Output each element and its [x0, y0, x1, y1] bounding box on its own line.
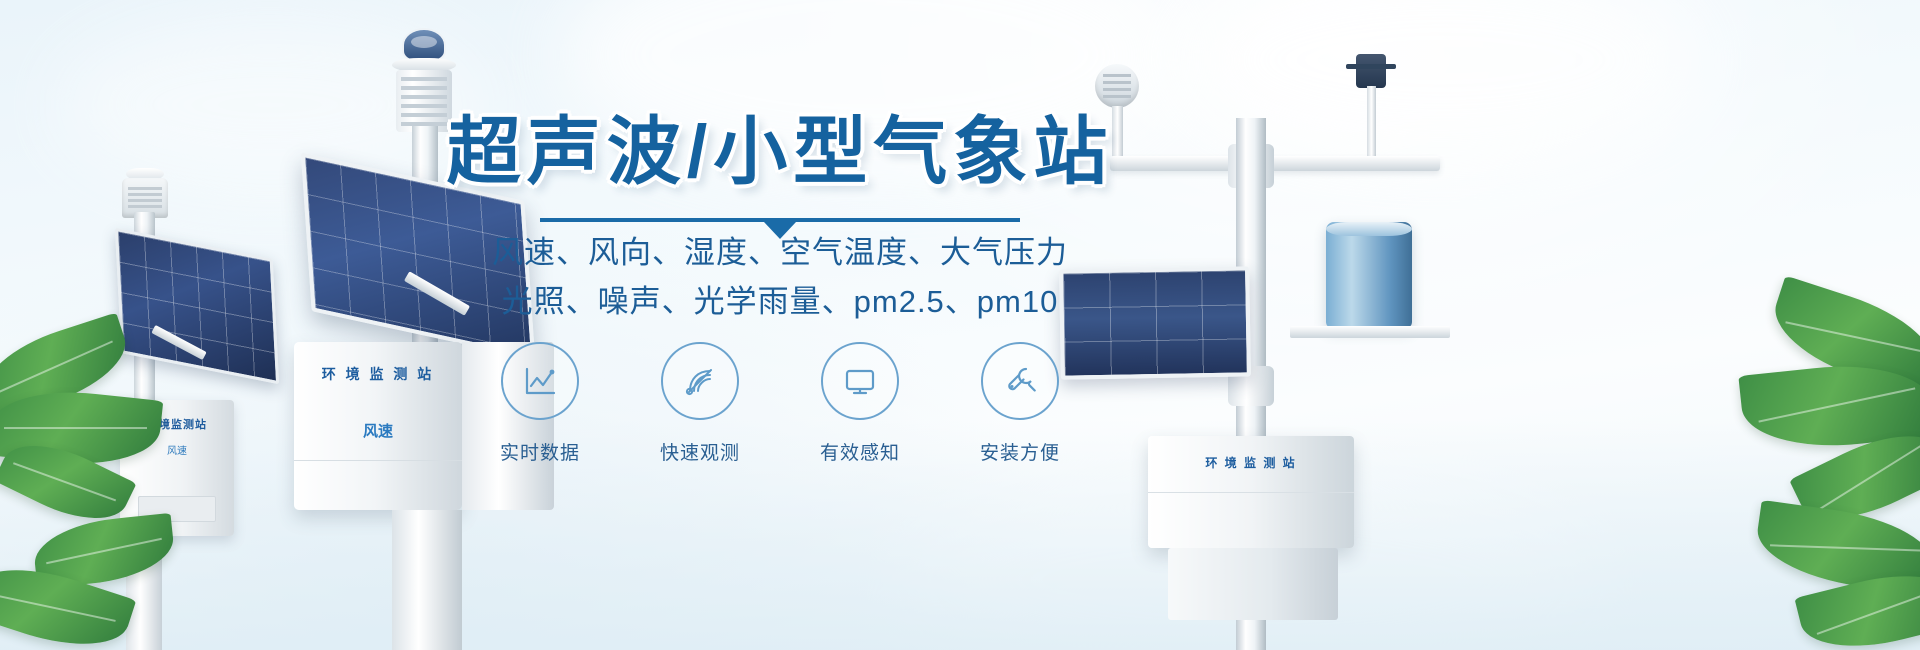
control-cabinet: 环 境 监 测 站 风速 [294, 342, 462, 510]
page-title: 超声波/小型气象站 [440, 115, 1120, 189]
wrench-icon [981, 342, 1059, 420]
sky-dome-sensor-icon [404, 30, 444, 60]
cross-arm [1110, 156, 1440, 171]
wind-vane-icon [1356, 54, 1386, 88]
lower-cabinet [1168, 548, 1338, 620]
cabinet-label: 环 境 监 测 站 [1148, 454, 1354, 471]
signal-wave-icon [661, 342, 739, 420]
banner-content: 超声波/小型气象站 风速、风向、湿度、空气温度、大气压力 光照、噪声、光学雨量、… [440, 0, 1120, 650]
product-banner: 环境监测站 风速 环 境 监 测 站 风速 [0, 0, 1920, 650]
cabinet-seam [1148, 492, 1354, 493]
control-cabinet: 环 境 监 测 站 [1148, 436, 1354, 548]
feature-label: 有效感知 [800, 438, 920, 465]
line-chart-icon [501, 342, 579, 420]
cabinet-seam [294, 460, 462, 461]
feature-label: 实时数据 [480, 438, 600, 465]
cabinet-brand: 风速 [294, 420, 462, 441]
feature-item-fast-observation[interactable]: 快速观测 [640, 342, 760, 465]
feature-item-realtime-data[interactable]: 实时数据 [480, 342, 600, 465]
monitor-icon [821, 342, 899, 420]
feature-label: 快速观测 [640, 438, 760, 465]
sensor-stem [1367, 86, 1376, 162]
lower-cross-arm [1290, 326, 1450, 338]
subtitle-line-1: 风速、风向、湿度、空气温度、大气压力 [440, 236, 1120, 270]
title-divider [540, 218, 1020, 222]
cabinet-label: 环 境 监 测 站 [294, 364, 462, 384]
feature-label: 安装方便 [960, 438, 1080, 465]
subtitle-line-2: 光照、噪声、光学雨量、pm2.5、pm10 [440, 285, 1120, 319]
feature-item-effective-sensing[interactable]: 有效感知 [800, 342, 920, 465]
rain-gauge-icon [1326, 222, 1412, 328]
feature-item-easy-installation[interactable]: 安装方便 [960, 342, 1080, 465]
feature-list: 实时数据 快速观测 [440, 342, 1120, 465]
